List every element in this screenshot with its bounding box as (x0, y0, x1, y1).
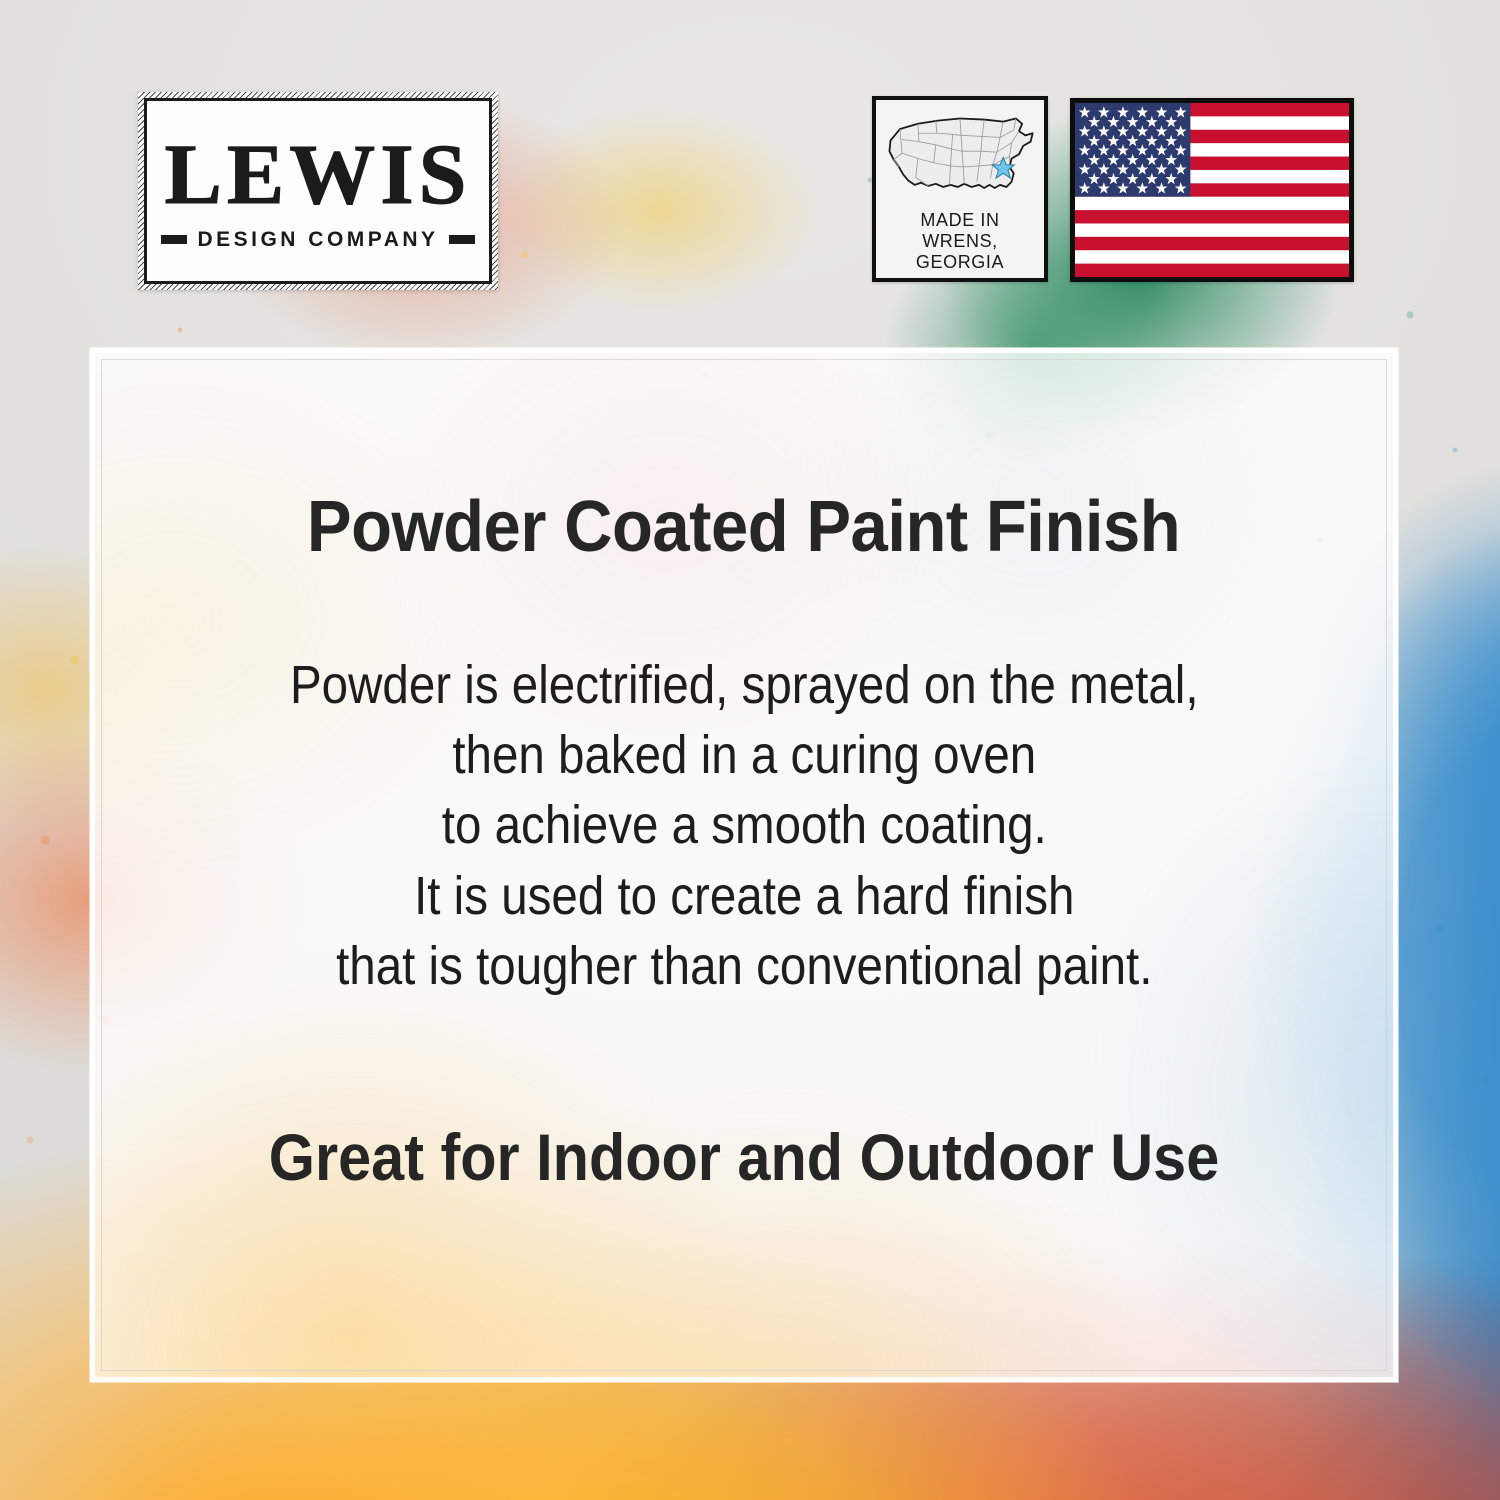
made-in-line-2: WRENS, GEORGIA (876, 231, 1044, 273)
description-body: Powder is electrified, sprayed on the me… (290, 650, 1199, 1001)
lewis-logo-badge: LEWIS DESIGN COMPANY (138, 92, 498, 290)
us-map-icon (881, 106, 1039, 210)
description-line: Powder is electrified, sprayed on the me… (290, 650, 1199, 720)
made-in-badge: MADE IN WRENS, GEORGIA (872, 96, 1048, 282)
poster-canvas: LEWIS DESIGN COMPANY (0, 0, 1500, 1500)
american-flag-badge (1070, 98, 1354, 282)
made-in-line-1: MADE IN (920, 210, 999, 231)
american-flag-icon (1075, 103, 1349, 277)
content-panel: Powder Coated Paint Finish Powder is ele… (90, 348, 1398, 1382)
content-panel-inner: Powder Coated Paint Finish Powder is ele… (101, 359, 1387, 1371)
logo-inner-frame: LEWIS DESIGN COMPANY (144, 98, 492, 284)
description-line: then baked in a curing oven (290, 720, 1199, 790)
description-line: It is used to create a hard finish (290, 861, 1199, 931)
tagline: Great for Indoor and Outdoor Use (269, 1119, 1219, 1195)
logo-subtitle-row: DESIGN COMPANY (161, 228, 475, 252)
page-title: Powder Coated Paint Finish (307, 486, 1180, 568)
description-line: that is tougher than conventional paint. (290, 931, 1199, 1001)
logo-rule-right (449, 235, 475, 244)
logo-rule-left (161, 235, 187, 244)
logo-subtitle: DESIGN COMPANY (197, 228, 438, 252)
description-line: to achieve a smooth coating. (290, 790, 1199, 860)
logo-wordmark: LEWIS (164, 134, 471, 216)
